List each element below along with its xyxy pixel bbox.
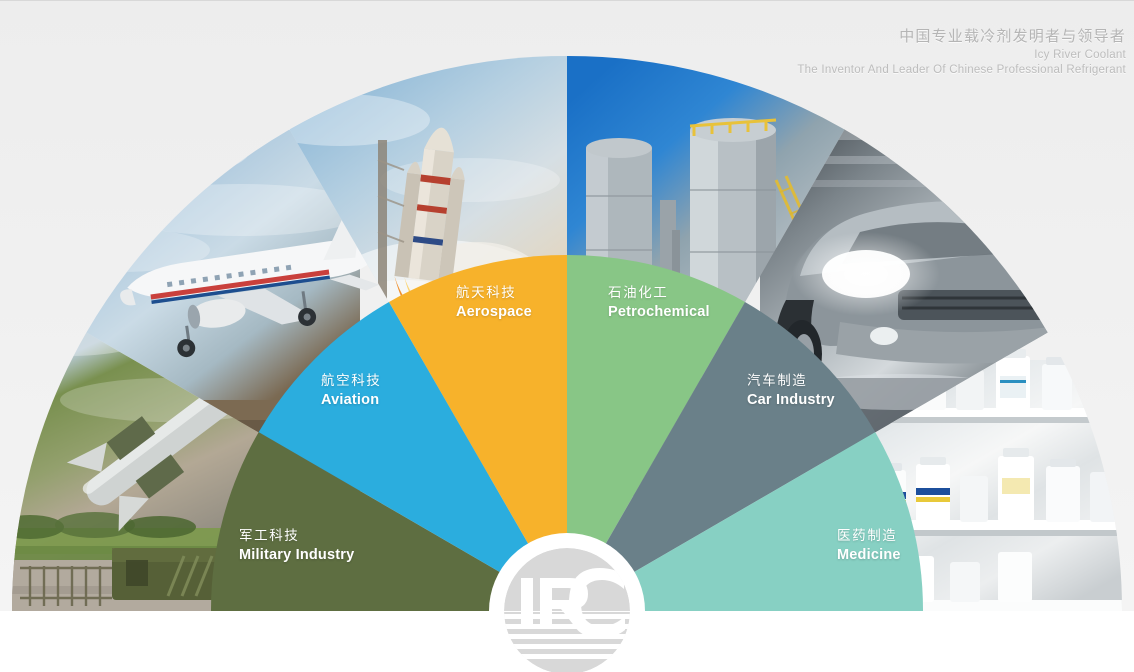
irc-logo <box>504 548 630 672</box>
header-title-cn: 中国专业载冷剂发明者与领导者 <box>797 27 1126 46</box>
header-subtitle-brand: Icy River Coolant <box>797 48 1126 63</box>
header-subtitle-tagline: The Inventor And Leader Of Chinese Profe… <box>797 63 1126 78</box>
page-root: 中国专业载冷剂发明者与领导者 Icy River Coolant The Inv… <box>0 0 1134 672</box>
header-branding: 中国专业载冷剂发明者与领导者 Icy River Coolant The Inv… <box>797 27 1126 78</box>
logo-mark <box>504 548 630 672</box>
fan-baseline-divider <box>0 611 1134 612</box>
irc-logo-svg <box>504 548 630 672</box>
